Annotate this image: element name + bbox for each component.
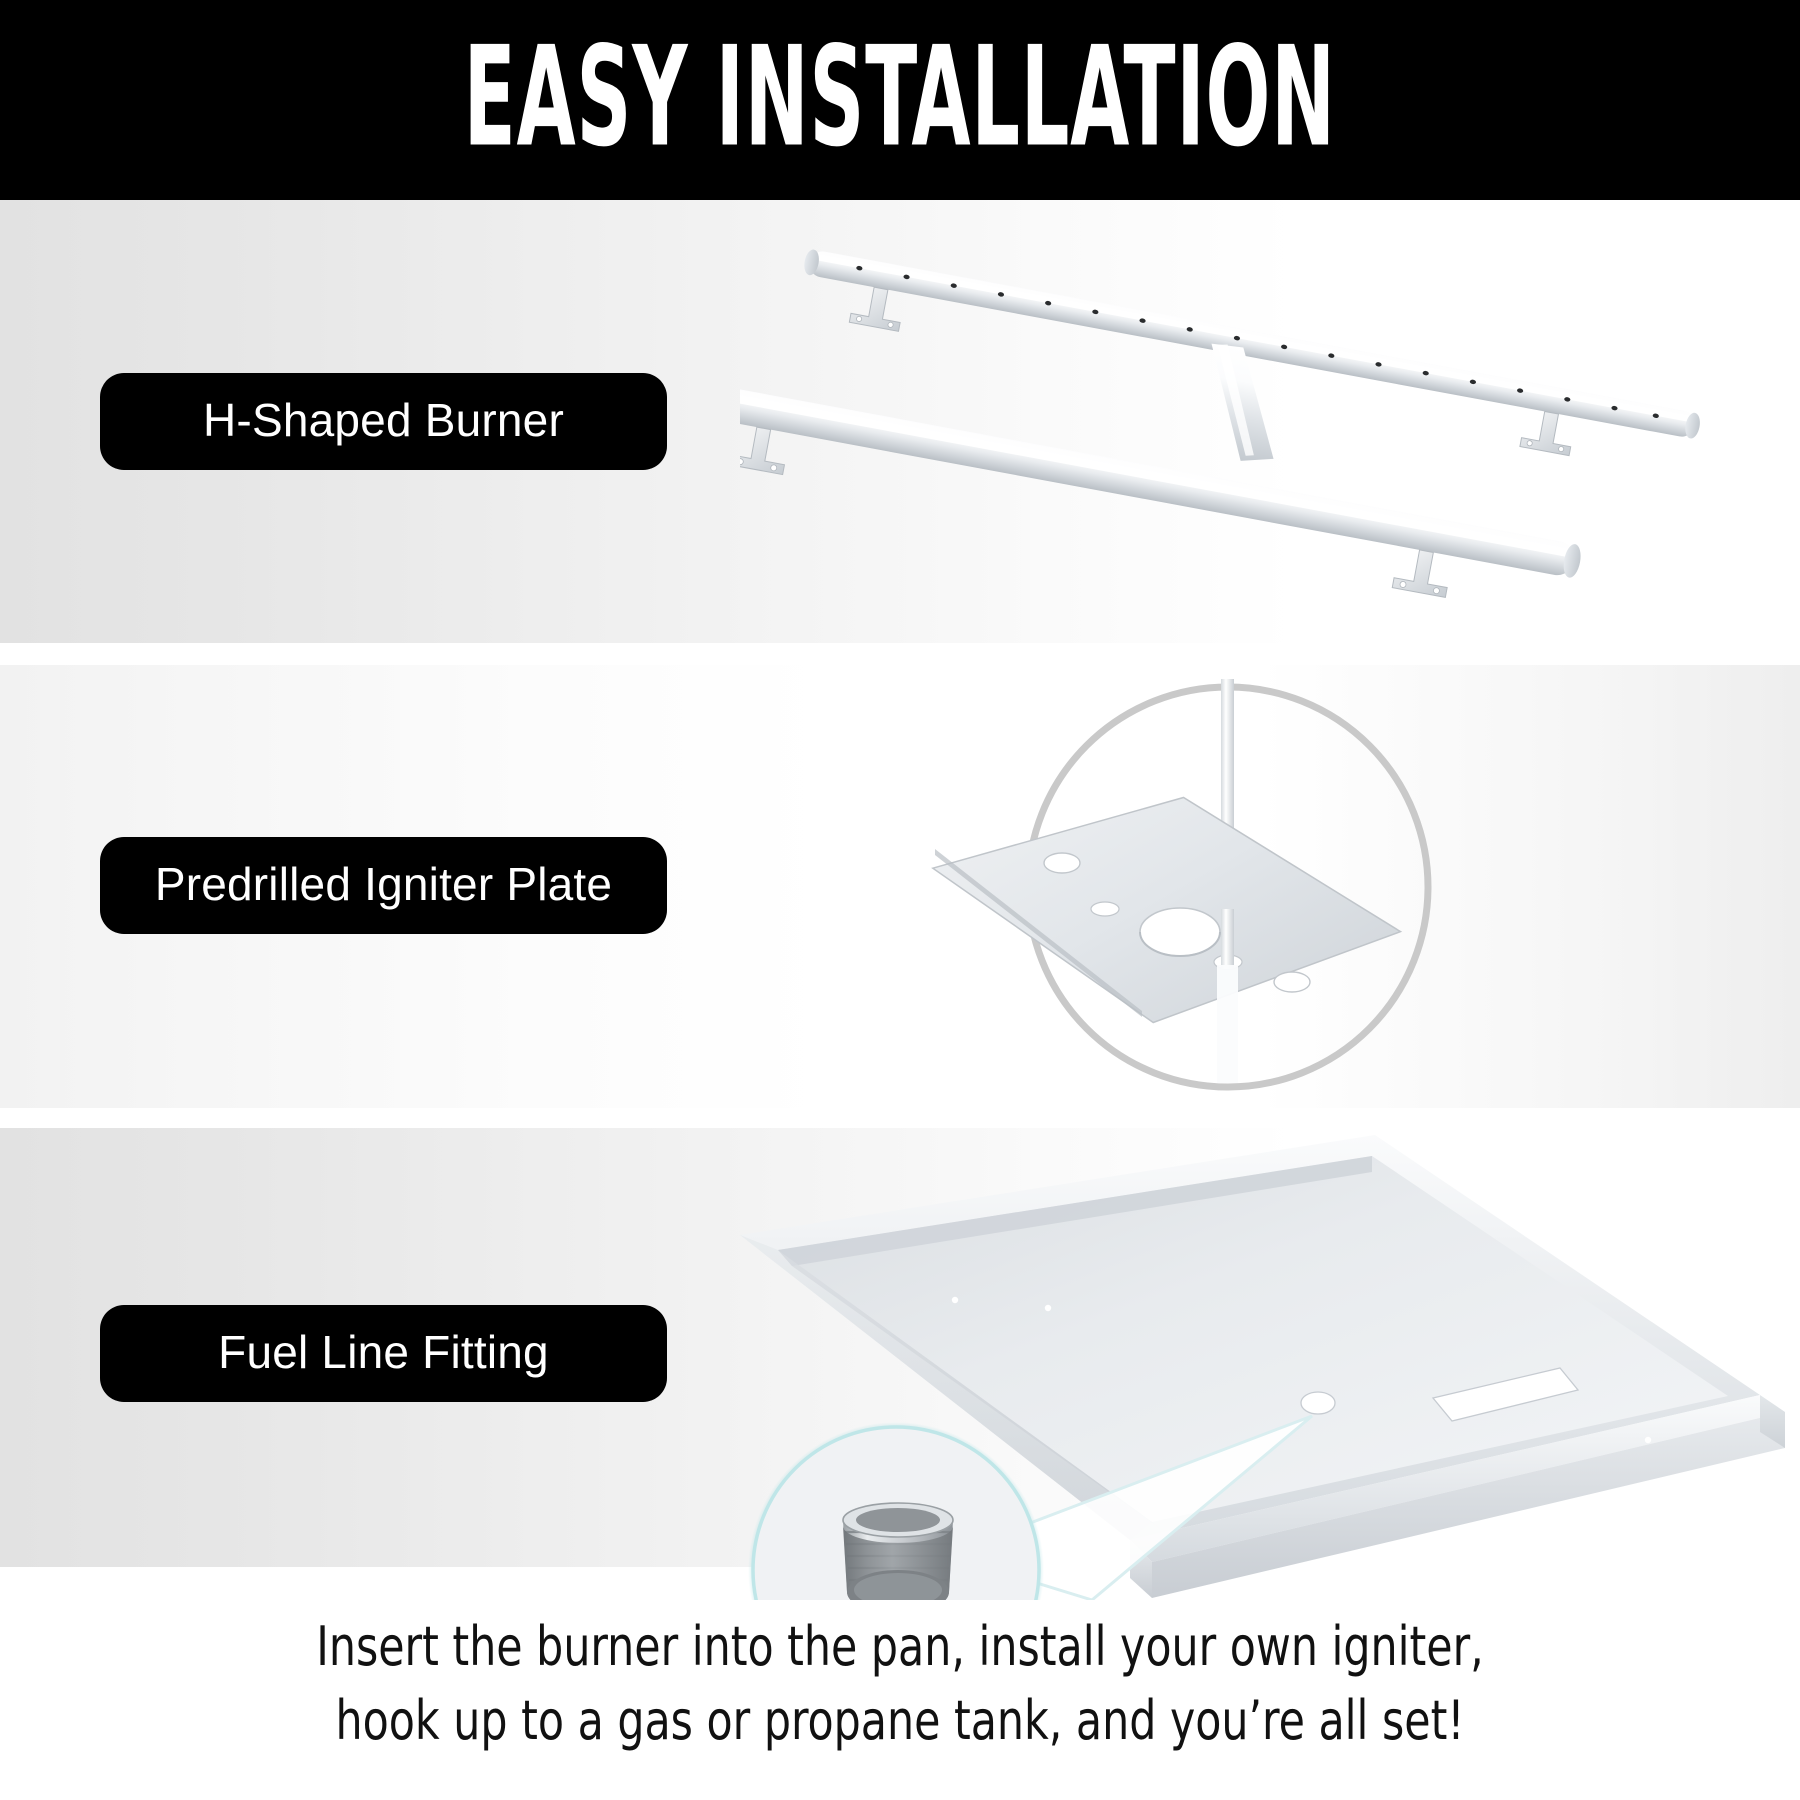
installation-caption: Insert the burner into the pan, install … [0,1610,1800,1758]
header-bar: EASY INSTALLATION [0,0,1800,200]
page-title: EASY INSTALLATION [464,27,1336,172]
caption-line-2: hook up to a gas or propane tank, and yo… [108,1684,1692,1758]
badge-predrilled-igniter-plate: Predrilled Igniter Plate [100,837,667,934]
badge-label-fuel-line-fitting: Fuel Line Fitting [218,1329,549,1375]
badge-label-predrilled-igniter-plate: Predrilled Igniter Plate [155,861,612,907]
badge-label-h-shaped-burner: H-Shaped Burner [203,397,564,443]
badge-fuel-line-fitting: Fuel Line Fitting [100,1305,667,1402]
badge-h-shaped-burner: H-Shaped Burner [100,373,667,470]
caption-line-1: Insert the burner into the pan, install … [108,1610,1692,1684]
